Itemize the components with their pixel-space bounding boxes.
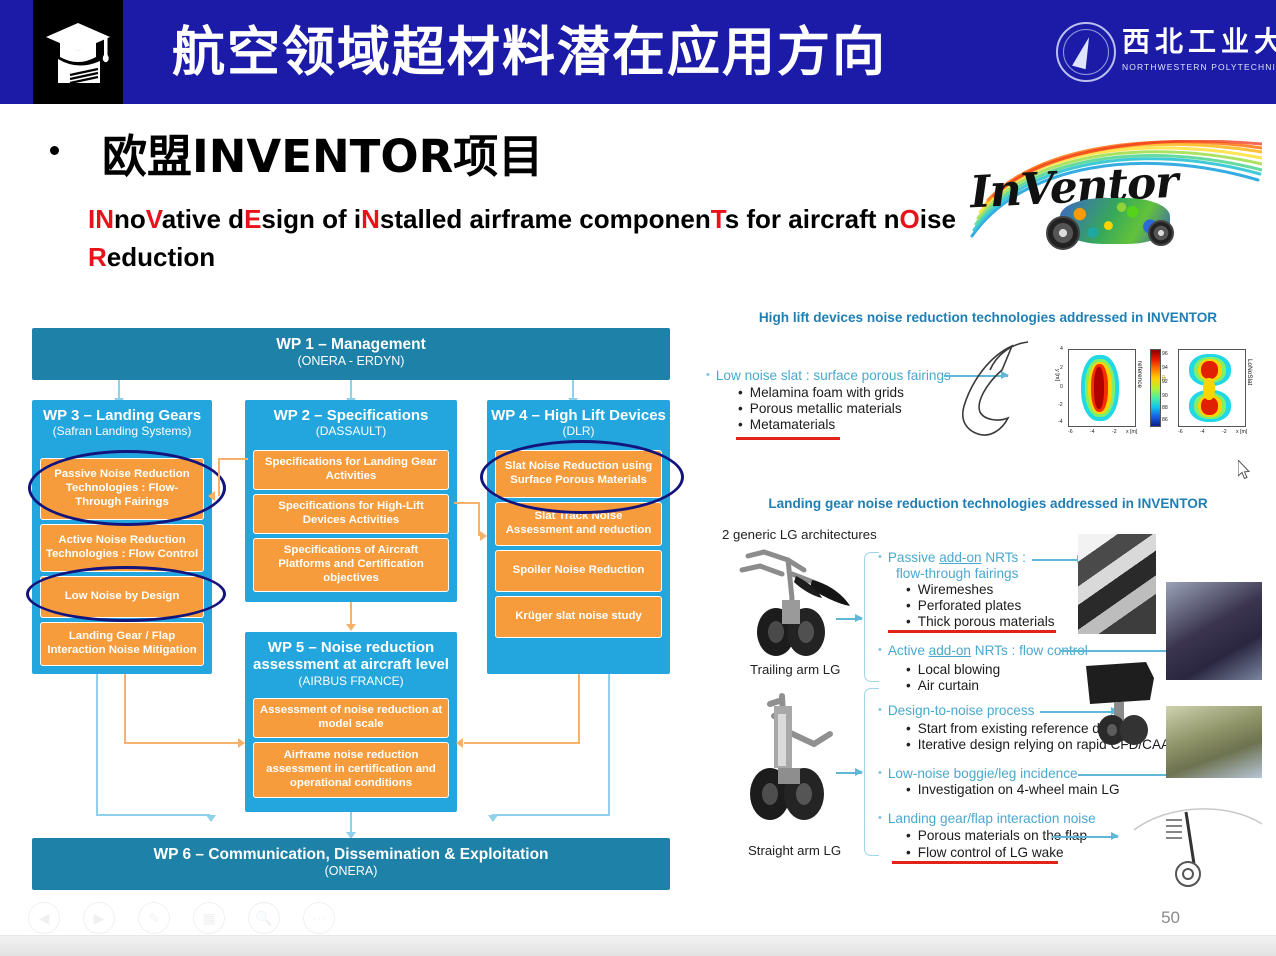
connector [454, 502, 480, 504]
axis-tick: -2 [1112, 429, 1117, 435]
beamforming-plot-lonoslat [1178, 349, 1246, 427]
wp3-org: (Safran Landing Systems) [32, 424, 212, 438]
page-title: 航空领域超材料潜在应用方向 [172, 10, 1032, 96]
axis-tick: -6 [1178, 429, 1183, 435]
wp6-title: WP 6 – Communication, Dissemination & Ex… [32, 838, 670, 864]
axis-tick: -6 [1068, 429, 1073, 435]
wp1-box: WP 1 – Management (ONERA - ERDYN) [32, 328, 670, 380]
connector [218, 458, 220, 496]
arrow-icon [488, 815, 498, 822]
photo-fairing-cad [1166, 582, 1262, 680]
slide-grid-icon[interactable]: ▦ [193, 902, 225, 934]
page-number: 50 [1161, 908, 1180, 928]
arrow-icon [1032, 559, 1084, 561]
wp3-item-1: Active Noise Reduction Technologies : Fl… [40, 524, 204, 572]
colorbar-tick: 90 [1162, 393, 1168, 399]
beamforming-y-axis-label: y [m] [1054, 369, 1060, 381]
more-options-icon[interactable]: ⋯ [303, 902, 335, 934]
axis-tick: -4 [1058, 419, 1063, 425]
beamforming-left-label: reference [1136, 361, 1143, 388]
axis-tick: -2 [1222, 429, 1227, 435]
connector [124, 674, 126, 744]
connector [118, 380, 120, 399]
next-slide-icon[interactable]: ▶ [83, 902, 115, 934]
wp3-item-0: Passive Noise Reduction Technologies : F… [40, 458, 204, 520]
wp3-item-3: Landing Gear / Flap Interaction Noise Mi… [40, 622, 204, 666]
connector [124, 742, 240, 744]
wp3-box: WP 3 – Landing Gears (Safran Landing Sys… [32, 400, 212, 674]
colorbar-tick: 96 [1162, 351, 1168, 357]
lg-topic-1-item-1: •Air curtain [906, 678, 979, 693]
beamforming-x-axis-label: x [m] [1126, 429, 1137, 435]
nwpu-logo: 西北工业大学 NORTHWESTERN POLYTECHNICAL UNIVER… [1048, 18, 1262, 86]
wp4-item-2: Spoiler Noise Reduction [495, 550, 662, 592]
pen-icon[interactable]: ✎ [138, 902, 170, 934]
presentation-toolbar[interactable]: ◀ ▶ ✎ ▦ 🔍 ⋯ [28, 902, 335, 934]
colorbar-tick: 86 [1162, 417, 1168, 423]
university-name-cn: 西北工业大学 [1122, 20, 1276, 60]
wp5-title-line1: WP 5 – Noise reduction [245, 632, 457, 656]
lg-flap-interaction-sketch [1128, 798, 1266, 888]
wp2-org: (DASSAULT) [245, 424, 457, 438]
wp4-box: WP 4 – High Lift Devices (DLR) Slat Nois… [487, 400, 670, 674]
brace-bottom [864, 688, 879, 856]
wp2-item-1: Specifications for High-Lift Devices Act… [253, 494, 449, 534]
zoom-icon[interactable]: 🔍 [248, 902, 280, 934]
arrow-icon [346, 624, 356, 631]
inventor-logo: InVentor [962, 140, 1262, 258]
beamforming-maps: reference dB 96 94 92 90 88 86 LoNoSlat … [1052, 343, 1252, 447]
wp1-org: (ONERA - ERDYN) [32, 354, 670, 369]
high-lift-topic: •Low noise slat : surface porous fairing… [706, 368, 951, 383]
connector [96, 674, 98, 816]
mouse-cursor-icon [1238, 460, 1252, 480]
high-lift-subitem-0: •Melamina foam with grids [738, 385, 904, 400]
red-underline-metamaterials [736, 437, 840, 440]
arrow-icon [480, 531, 487, 541]
lg-topic-0-item-1: •Perforated plates [906, 598, 1021, 613]
prev-slide-icon[interactable]: ◀ [28, 902, 60, 934]
red-underline-passive-nrt [888, 630, 1056, 633]
graduation-cap-book-icon [33, 0, 123, 104]
axis-tick: -4 [1090, 429, 1095, 435]
beamforming-right-label: LoNoSlat [1246, 359, 1253, 385]
arrow-icon [208, 491, 215, 501]
lg-topic-3-title: •Low-noise boggie/leg incidence [878, 766, 1078, 781]
connector [350, 380, 352, 399]
axis-tick: 0 [1060, 384, 1063, 390]
lg-topic-3-item-0: •Investigation on 4-wheel main LG [906, 782, 1120, 797]
wp5-title-line2: assessment at aircraft level [245, 656, 457, 673]
beamforming-colorbar [1150, 349, 1161, 427]
wp5-item-1: Airframe noise reduction assessment in c… [253, 742, 449, 798]
axis-tick: -4 [1200, 429, 1205, 435]
wp3-item-2: Low Noise by Design [40, 576, 204, 618]
lg-topic-0-title-line2: flow-through fairings [896, 566, 1018, 581]
lg-topic-4-title: •Landing gear/flap interaction noise [878, 811, 1096, 826]
colorbar-tick: 88 [1162, 405, 1168, 411]
photo-nose-gear-cad [1080, 660, 1170, 746]
arrow-icon [836, 772, 862, 774]
wp3-title: WP 3 – Landing Gears [32, 400, 212, 424]
bullet-title: 欧盟INVENTOR项目 [102, 120, 543, 185]
red-underline-lg-flap [892, 861, 1058, 864]
lg-topic-1-title-line1: •Active add-on NRTs : flow control [878, 643, 1088, 658]
high-lift-subitem-1: •Porous metallic materials [738, 401, 902, 416]
colorbar-tick: 94 [1162, 365, 1168, 371]
wp4-org: (DLR) [487, 424, 670, 438]
high-lift-subitem-2: •Metamaterials [738, 417, 835, 432]
header-banner: 航空领域超材料潜在应用方向 西北工业大学 NORTHWESTERN POLYTE… [0, 0, 1276, 104]
trailing-arm-lg-illustration [726, 540, 856, 660]
lg-topic-1-item-0: •Local blowing [906, 662, 1000, 677]
wp5-item-0: Assessment of noise reduction at model s… [253, 698, 449, 738]
photo-4wheel-lg-aircraft [1166, 706, 1262, 778]
connector [464, 742, 580, 744]
wp4-item-0: Slat Noise Reduction using Surface Porou… [495, 450, 662, 498]
arrow-icon [1052, 836, 1118, 838]
high-lift-section-title: High lift devices noise reduction techno… [700, 310, 1276, 325]
wp1-title: WP 1 – Management [32, 328, 670, 354]
beamforming-plot-reference [1068, 349, 1136, 427]
inventor-wheel-rear-icon [1148, 220, 1174, 246]
inventor-wheel-front-icon [1046, 216, 1080, 250]
connector [492, 814, 610, 816]
wp5-box: WP 5 – Noise reduction assessment at air… [245, 632, 457, 812]
project-full-name: INnoVative dEsign of iNstalled airframe … [88, 200, 958, 277]
connector [578, 674, 580, 744]
lg-label-1: Straight arm LG [748, 843, 841, 858]
lg-topic-0-item-2: •Thick porous materials [906, 614, 1055, 629]
lg-topic-2-title: •Design-to-noise process [878, 703, 1034, 718]
photo-flow-through-fairing [1078, 534, 1156, 634]
wp4-item-1: Slat Track Noise Assessment and reductio… [495, 502, 662, 546]
university-name-en: NORTHWESTERN POLYTECHNICAL UNIVERSITY [1122, 62, 1276, 72]
lg-topic-0-title-line1: •Passive add-on NRTs : [878, 550, 1026, 565]
lg-topic-0-item-0: •Wiremeshes [906, 582, 993, 597]
slat-airfoil-sketch [950, 338, 1054, 448]
nwpu-seal-icon [1056, 22, 1116, 82]
wp4-item-3: Krüger slat noise study [495, 596, 662, 638]
wp5-org: (AIRBUS FRANCE) [245, 674, 457, 688]
axis-tick: 2 [1060, 365, 1063, 371]
axis-tick: -2 [1058, 402, 1063, 408]
arrow-icon [238, 738, 245, 748]
lg-topic-4-item-1: •Flow control of LG wake [906, 845, 1064, 860]
wp2-item-0: Specifications for Landing Gear Activiti… [253, 450, 449, 490]
wp6-org: (ONERA) [32, 864, 670, 879]
axis-tick: 4 [1060, 346, 1063, 352]
connector [572, 380, 574, 399]
wp2-item-2: Specifications of Aircraft Platforms and… [253, 538, 449, 592]
beamforming-x-axis-label: x [m] [1236, 429, 1247, 435]
arrow-icon [206, 815, 216, 822]
wp4-title: WP 4 – High Lift Devices [487, 400, 670, 424]
bullet-dot-icon [50, 146, 59, 155]
connector [608, 674, 610, 816]
wp2-box: WP 2 – Specifications (DASSAULT) Specifi… [245, 400, 457, 602]
lg-label-0: Trailing arm LG [750, 662, 840, 677]
connector [350, 602, 352, 626]
arrow-icon [836, 618, 862, 620]
arrow-icon [456, 738, 463, 748]
connector [218, 458, 248, 460]
brace-top [864, 552, 879, 682]
colorbar-tick: 92 [1162, 379, 1168, 385]
bottom-strip [0, 935, 1276, 956]
wp6-box: WP 6 – Communication, Dissemination & Ex… [32, 838, 670, 890]
wp2-title: WP 2 – Specifications [245, 400, 457, 424]
connector [96, 814, 210, 816]
landing-gear-section-title: Landing gear noise reduction technologie… [700, 496, 1276, 511]
straight-arm-lg-illustration [726, 690, 856, 830]
inventor-workpackage-diagram: WP 1 – Management (ONERA - ERDYN) WP 3 –… [32, 328, 670, 858]
